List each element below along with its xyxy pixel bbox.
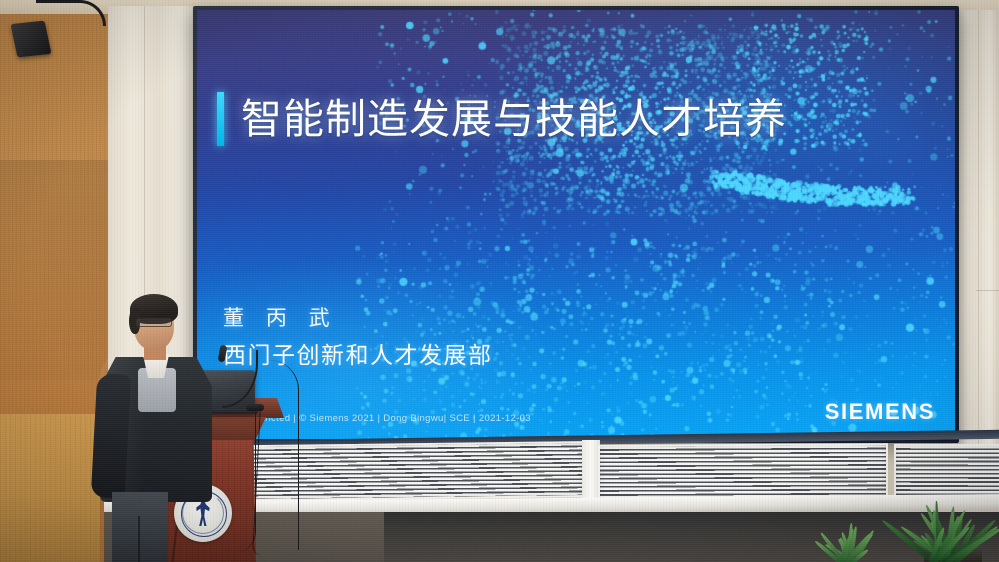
potted-plant-small bbox=[814, 524, 884, 562]
particle-cloud-graphic bbox=[197, 10, 955, 439]
wall-speaker-icon bbox=[10, 21, 51, 58]
air-vent-louver bbox=[598, 443, 888, 501]
presenter-arm bbox=[91, 373, 131, 499]
potted-plant bbox=[898, 492, 998, 562]
podium-cable bbox=[236, 412, 256, 552]
left-wood-lower-panel bbox=[0, 414, 100, 562]
slide-title: 智能制造发展与技能人才培养 bbox=[241, 90, 787, 148]
presentation-slide: 智能制造发展与技能人才培养 董 丙 武 西门子创新和人才发展部 Unrestri… bbox=[197, 10, 955, 439]
presenter-glasses-icon bbox=[136, 318, 172, 327]
presentation-photo-scene: 智能制造发展与技能人才培养 董 丙 武 西门子创新和人才发展部 Unrestri… bbox=[0, 0, 999, 562]
led-screen-bezel: 智能制造发展与技能人才培养 董 丙 武 西门子创新和人才发展部 Unrestri… bbox=[193, 6, 959, 443]
presenter-person bbox=[86, 292, 221, 562]
loose-cable bbox=[269, 360, 299, 550]
wall-panel-seam bbox=[976, 290, 999, 291]
siemens-logo: SIEMENS bbox=[825, 399, 935, 425]
presenter-trousers bbox=[112, 492, 168, 562]
slide-presenter-org: 西门子创新和人才发展部 bbox=[223, 336, 493, 370]
title-accent-bar bbox=[217, 92, 224, 146]
presenter-trouser-seam bbox=[138, 516, 140, 562]
slide-presenter-name: 董 丙 武 bbox=[223, 302, 338, 332]
